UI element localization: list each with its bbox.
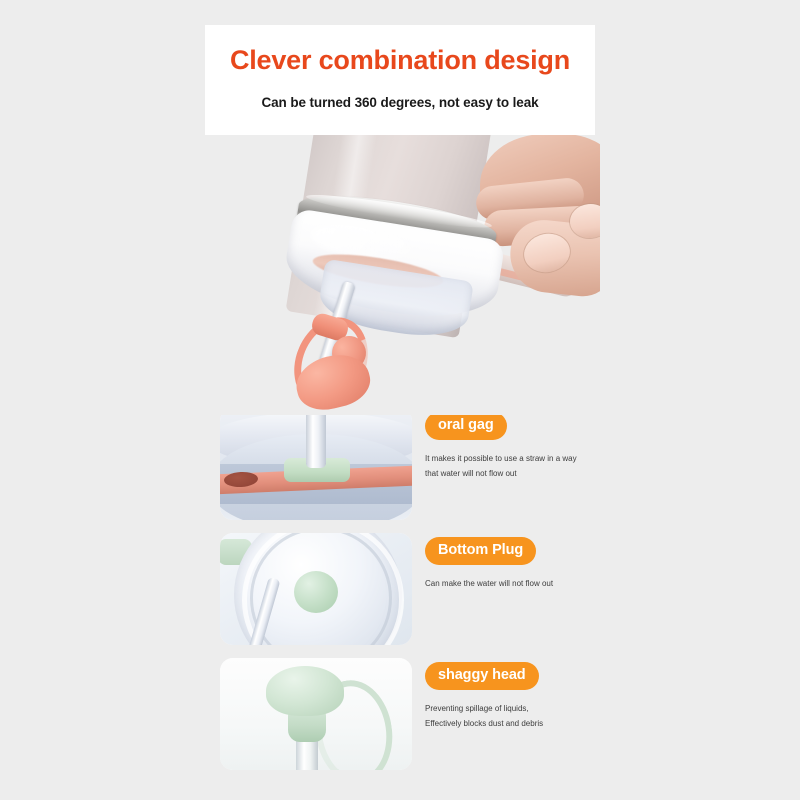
page-title: Clever combination design	[230, 47, 570, 74]
infographic-page: Clever combination design Can be turned …	[0, 0, 800, 800]
feature-photo-oral-gag	[220, 408, 412, 520]
photo-illustration-mushroom-cap	[220, 658, 412, 770]
photo1-straw	[306, 408, 326, 468]
feature-description-line: It makes it possible to use a straw in a…	[425, 451, 605, 467]
feature-description-line: Effectively blocks dust and debris	[425, 716, 605, 732]
feature-badge-bottom-plug: Bottom Plug	[425, 537, 536, 565]
feature-row-shaggy-head: shaggy head Preventing spillage of liqui…	[220, 658, 595, 770]
hero-product-photo	[200, 120, 600, 415]
feature-description-oral-gag: It makes it possible to use a straw in a…	[425, 451, 605, 482]
hero-illustration	[200, 120, 600, 415]
title-card: Clever combination design Can be turned …	[205, 25, 595, 135]
feature-photo-shaggy-head	[220, 658, 412, 770]
feature-description-line: that water will not flow out	[425, 466, 605, 482]
feature-description-bottom-plug: Can make the water will not flow out	[425, 576, 605, 592]
feature-row-oral-gag: oral gag It makes it possible to use a s…	[220, 408, 595, 520]
feature-description-line: Preventing spillage of liquids,	[425, 701, 605, 717]
feature-row-bottom-plug: Bottom Plug Can make the water will not …	[220, 533, 595, 645]
feature-photo-bottom-plug	[220, 533, 412, 645]
photo3-mushroom-cap	[266, 666, 344, 716]
feature-text-oral-gag: oral gag It makes it possible to use a s…	[425, 412, 605, 482]
feature-badge-shaggy-head: shaggy head	[425, 662, 539, 690]
feature-description-line: Can make the water will not flow out	[425, 576, 605, 592]
photo2-mint-ball-plug	[294, 571, 338, 613]
photo-illustration-lid-underside	[220, 533, 412, 645]
photo-illustration-lid-interior	[220, 408, 412, 520]
page-subtitle: Can be turned 360 degrees, not easy to l…	[261, 95, 538, 110]
feature-badge-oral-gag: oral gag	[425, 412, 507, 440]
feature-text-bottom-plug: Bottom Plug Can make the water will not …	[425, 537, 605, 591]
feature-text-shaggy-head: shaggy head Preventing spillage of liqui…	[425, 662, 605, 732]
feature-description-shaggy-head: Preventing spillage of liquids, Effectiv…	[425, 701, 605, 732]
